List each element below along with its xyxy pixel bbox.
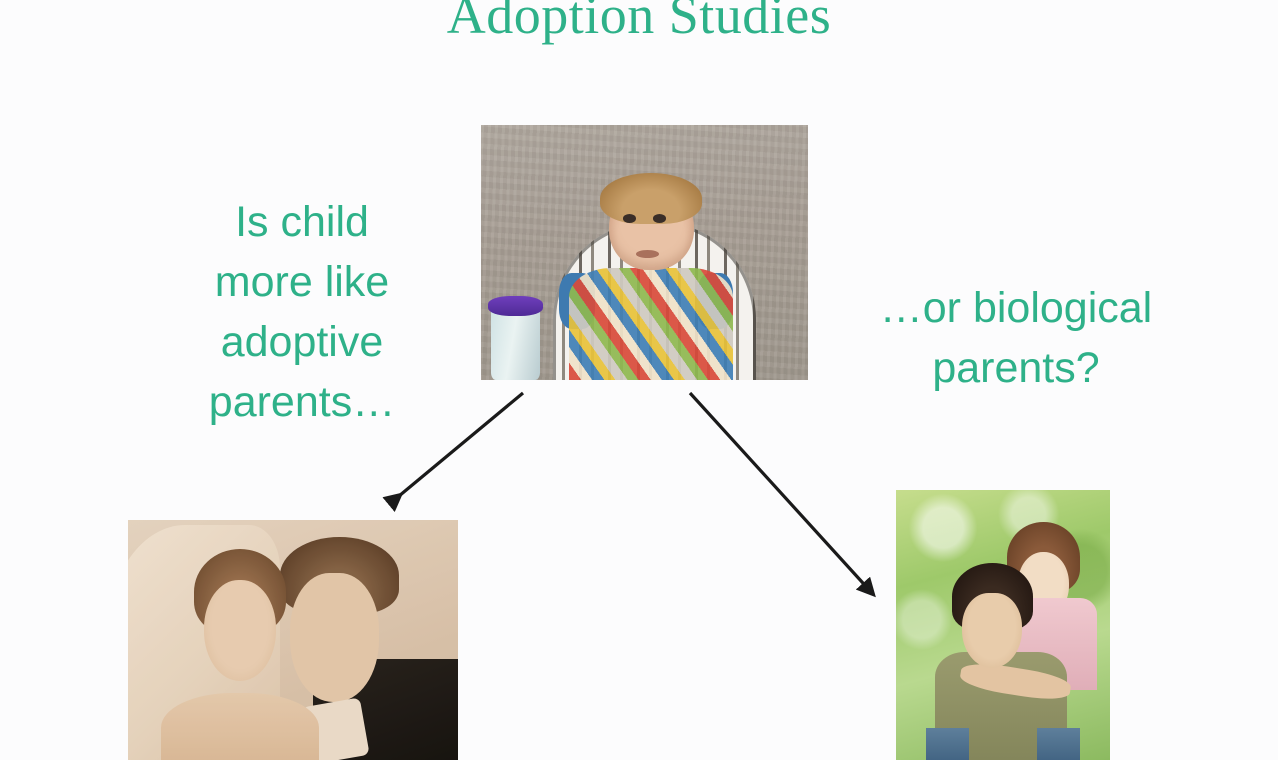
sepia-tone-overlay — [128, 520, 458, 760]
sippy-cup-lid — [488, 296, 544, 316]
child-right-eye — [653, 214, 666, 223]
arrow-to-biological-parents-icon — [680, 385, 890, 610]
man-face — [962, 593, 1022, 669]
right-question-text: …or biological parents? — [846, 278, 1186, 398]
page-title: Adoption Studies — [0, 0, 1278, 46]
biological-parents-photo — [896, 490, 1110, 760]
child-photo — [481, 125, 808, 380]
adoptive-parents-photo — [128, 520, 458, 760]
jeans-left — [926, 728, 969, 760]
adoption-studies-slide: Adoption Studies Is child more like adop… — [0, 0, 1278, 760]
child-hair — [600, 173, 701, 224]
child-shirt — [569, 268, 733, 380]
left-question-text: Is child more like adoptive parents… — [178, 192, 426, 432]
jeans-right — [1037, 728, 1080, 760]
child-mouth — [636, 250, 659, 258]
